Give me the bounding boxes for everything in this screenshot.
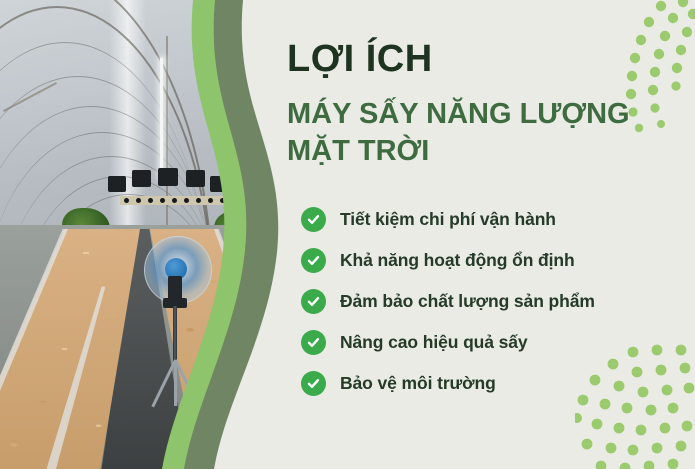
list-item: Đảm bảo chất lượng sản phẩm <box>301 281 691 322</box>
benefits-poster: LỢI ÍCH MÁY SẤY NĂNG LƯỢNG MẶT TRỜI Tiết… <box>0 0 695 469</box>
page-subtitle: MÁY SẤY NĂNG LƯỢNG MẶT TRỜI <box>287 96 667 170</box>
content-panel: LỢI ÍCH MÁY SẤY NĂNG LƯỢNG MẶT TRỜI Tiết… <box>287 0 695 469</box>
list-item: Tiết kiệm chi phí vận hành <box>301 199 691 240</box>
wave-divider <box>0 0 330 469</box>
page-title: LỢI ÍCH <box>287 40 433 78</box>
benefit-label: Đảm bảo chất lượng sản phẩm <box>340 291 595 312</box>
check-circle-icon <box>301 330 326 355</box>
list-item: Khả năng hoạt động ổn định <box>301 240 691 281</box>
check-circle-icon <box>301 289 326 314</box>
benefit-label: Khả năng hoạt động ổn định <box>340 250 575 271</box>
benefit-label: Bảo vệ môi trường <box>340 373 496 394</box>
benefit-label: Nâng cao hiệu quả sấy <box>340 332 528 353</box>
list-item: Nâng cao hiệu quả sấy <box>301 322 691 363</box>
list-item: Bảo vệ môi trường <box>301 363 691 404</box>
check-circle-icon <box>301 207 326 232</box>
check-circle-icon <box>301 371 326 396</box>
benefit-label: Tiết kiệm chi phí vận hành <box>340 209 556 230</box>
benefits-list: Tiết kiệm chi phí vận hành Khả năng hoạt… <box>301 199 691 404</box>
check-circle-icon <box>301 248 326 273</box>
